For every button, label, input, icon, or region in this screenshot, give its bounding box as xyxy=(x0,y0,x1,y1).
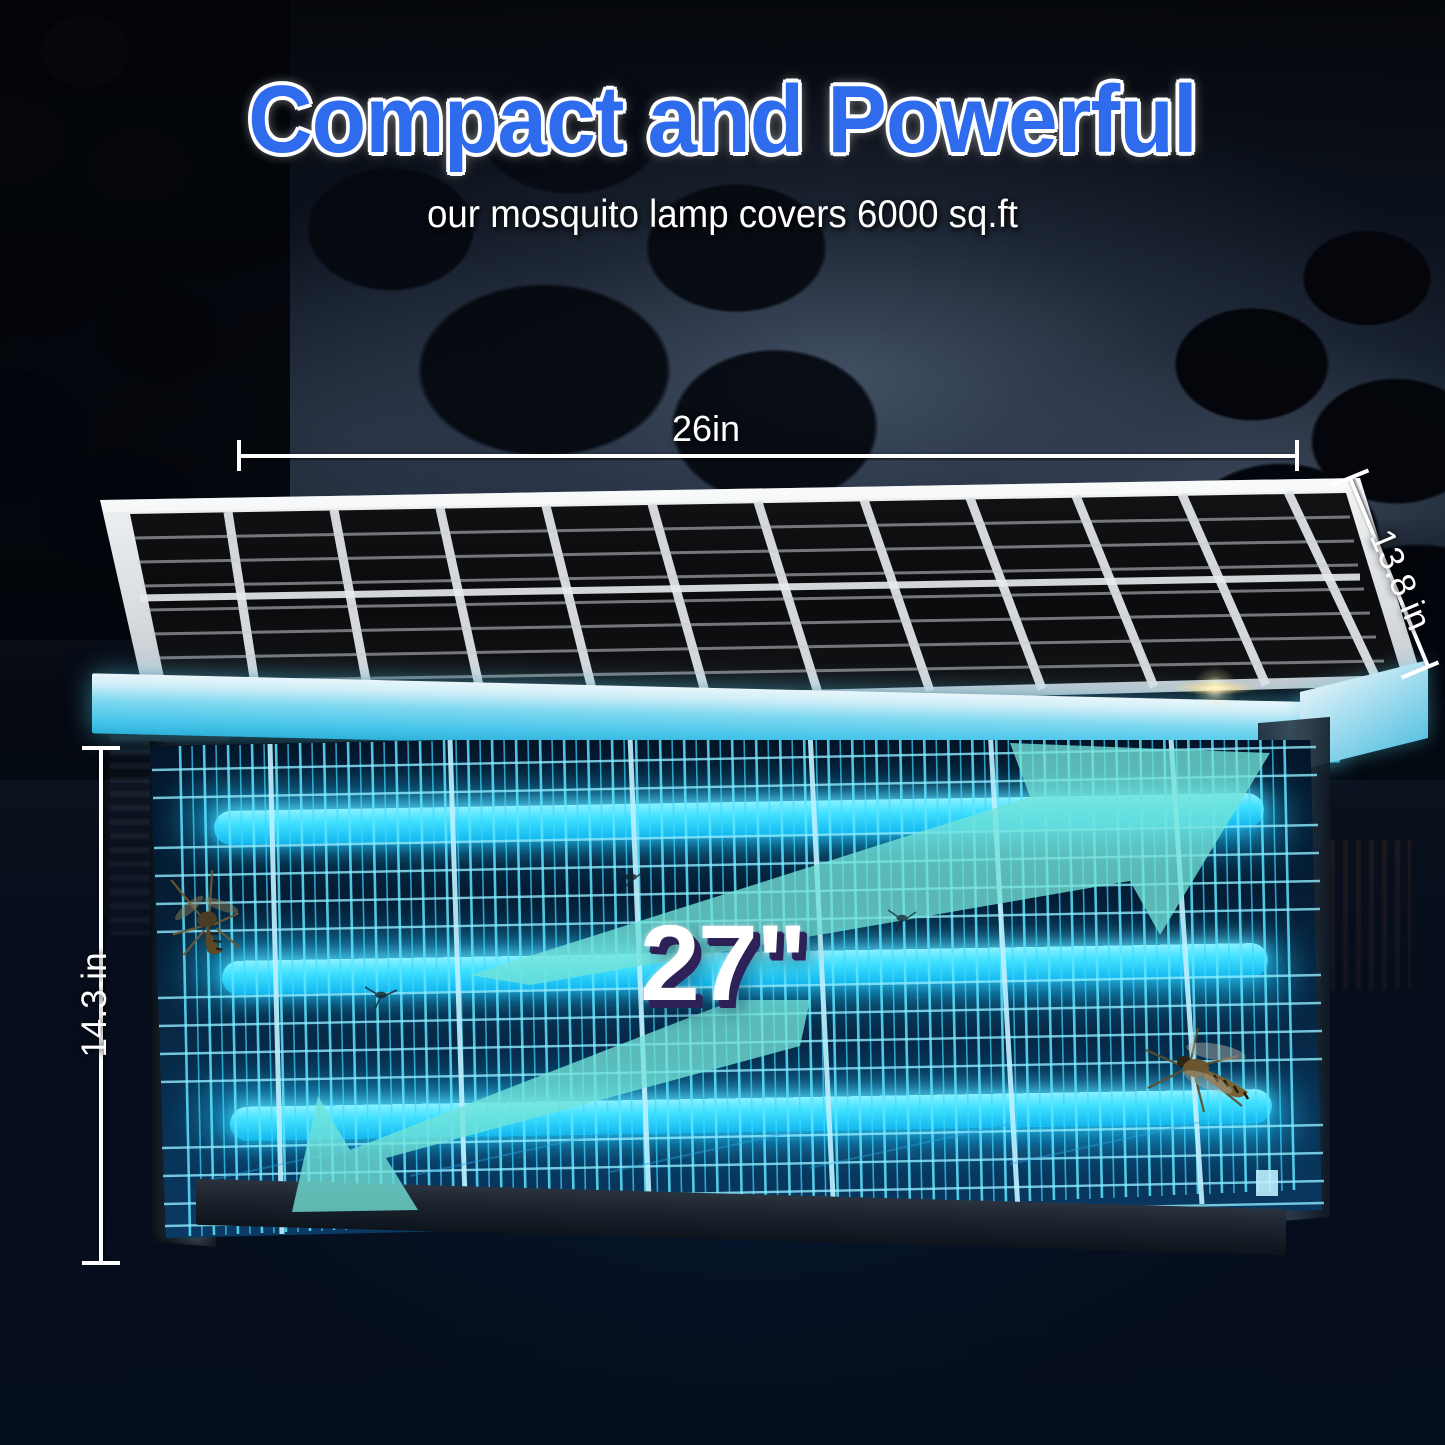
product-photo: 27" xyxy=(0,0,1445,1445)
dimension-line-width xyxy=(238,454,1298,458)
dimension-label-height: 14.3 in xyxy=(75,905,115,1105)
dimension-cap-width-left xyxy=(237,440,241,471)
dimension-cap-width-right xyxy=(1295,440,1299,471)
dimension-label-width: 26in xyxy=(672,408,740,450)
dimension-cap-height-top xyxy=(82,746,120,750)
diagonal-size-callout: 27" xyxy=(0,900,1445,1025)
product-marketing-image: Compact and Powerful our mosquito lamp c… xyxy=(0,0,1445,1445)
dimension-cap-height-bottom xyxy=(82,1261,120,1265)
